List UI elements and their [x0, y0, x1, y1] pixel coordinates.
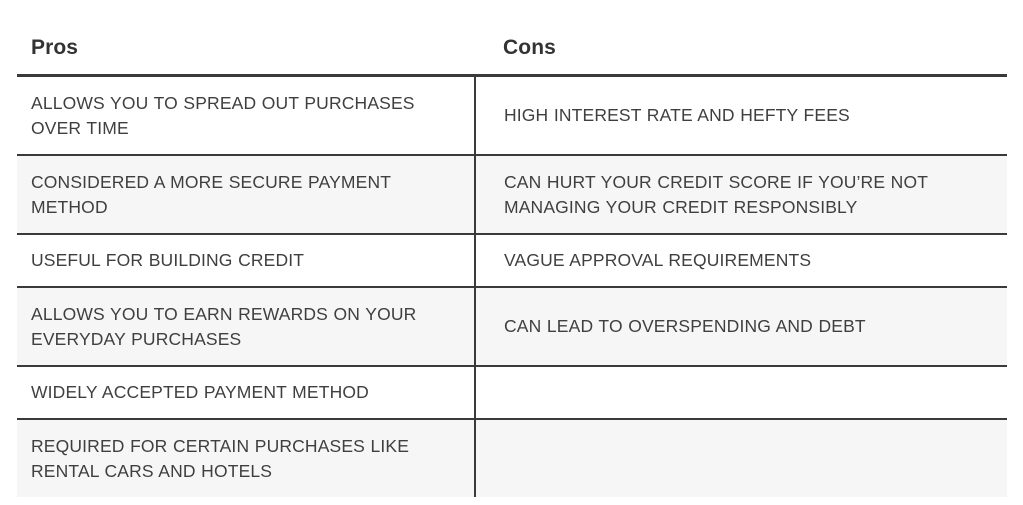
cell-pros-text: CONSIDERED A MORE SECURE PAYMENT METHOD [31, 170, 456, 220]
table-body: ALLOWS YOU TO SPREAD OUT PURCHASES OVER … [17, 76, 1007, 498]
cell-pros: REQUIRED FOR CERTAIN PURCHASES LIKE RENT… [17, 419, 475, 497]
table-row: REQUIRED FOR CERTAIN PURCHASES LIKE RENT… [17, 419, 1007, 497]
cell-cons-text: VAGUE APPROVAL REQUIREMENTS [504, 248, 987, 273]
table-row: ALLOWS YOU TO SPREAD OUT PURCHASES OVER … [17, 76, 1007, 156]
table-header-row: Pros Cons [17, 36, 1007, 76]
cell-cons-empty [475, 366, 1007, 419]
column-header-cons: Cons [475, 36, 1007, 76]
cell-pros-text: ALLOWS YOU TO SPREAD OUT PURCHASES OVER … [31, 91, 456, 141]
cell-pros: ALLOWS YOU TO EARN REWARDS ON YOUR EVERY… [17, 287, 475, 366]
cell-pros-text: WIDELY ACCEPTED PAYMENT METHOD [31, 380, 456, 405]
cell-cons-empty [475, 419, 1007, 497]
cell-cons-text [504, 392, 987, 393]
cell-pros-text: USEFUL FOR BUILDING CREDIT [31, 248, 456, 273]
cell-pros: USEFUL FOR BUILDING CREDIT [17, 234, 475, 287]
cell-cons-text: CAN LEAD TO OVERSPENDING AND DEBT [504, 314, 987, 339]
cell-cons-text: HIGH INTEREST RATE AND HEFTY FEES [504, 103, 987, 128]
pros-cons-table: Pros Cons ALLOWS YOU TO SPREAD OUT PURCH… [17, 36, 1007, 497]
cell-pros-text: ALLOWS YOU TO EARN REWARDS ON YOUR EVERY… [31, 302, 456, 352]
table-row: CONSIDERED A MORE SECURE PAYMENT METHOD … [17, 155, 1007, 234]
cell-cons-text: CAN HURT YOUR CREDIT SCORE IF YOU’RE NOT… [504, 170, 987, 220]
cell-pros-text: REQUIRED FOR CERTAIN PURCHASES LIKE RENT… [31, 434, 456, 484]
cell-cons: VAGUE APPROVAL REQUIREMENTS [475, 234, 1007, 287]
comparison-table-container: Pros Cons ALLOWS YOU TO SPREAD OUT PURCH… [17, 36, 1007, 497]
cell-pros: WIDELY ACCEPTED PAYMENT METHOD [17, 366, 475, 419]
table-row: WIDELY ACCEPTED PAYMENT METHOD [17, 366, 1007, 419]
cell-cons: CAN LEAD TO OVERSPENDING AND DEBT [475, 287, 1007, 366]
column-header-pros: Pros [17, 36, 475, 76]
table-header: Pros Cons [17, 36, 1007, 76]
cell-cons-text [504, 458, 987, 459]
cell-pros: CONSIDERED A MORE SECURE PAYMENT METHOD [17, 155, 475, 234]
page-root: Pros Cons ALLOWS YOU TO SPREAD OUT PURCH… [0, 0, 1023, 505]
table-row: ALLOWS YOU TO EARN REWARDS ON YOUR EVERY… [17, 287, 1007, 366]
cell-cons: HIGH INTEREST RATE AND HEFTY FEES [475, 76, 1007, 156]
table-row: USEFUL FOR BUILDING CREDIT VAGUE APPROVA… [17, 234, 1007, 287]
cell-pros: ALLOWS YOU TO SPREAD OUT PURCHASES OVER … [17, 76, 475, 156]
cell-cons: CAN HURT YOUR CREDIT SCORE IF YOU’RE NOT… [475, 155, 1007, 234]
